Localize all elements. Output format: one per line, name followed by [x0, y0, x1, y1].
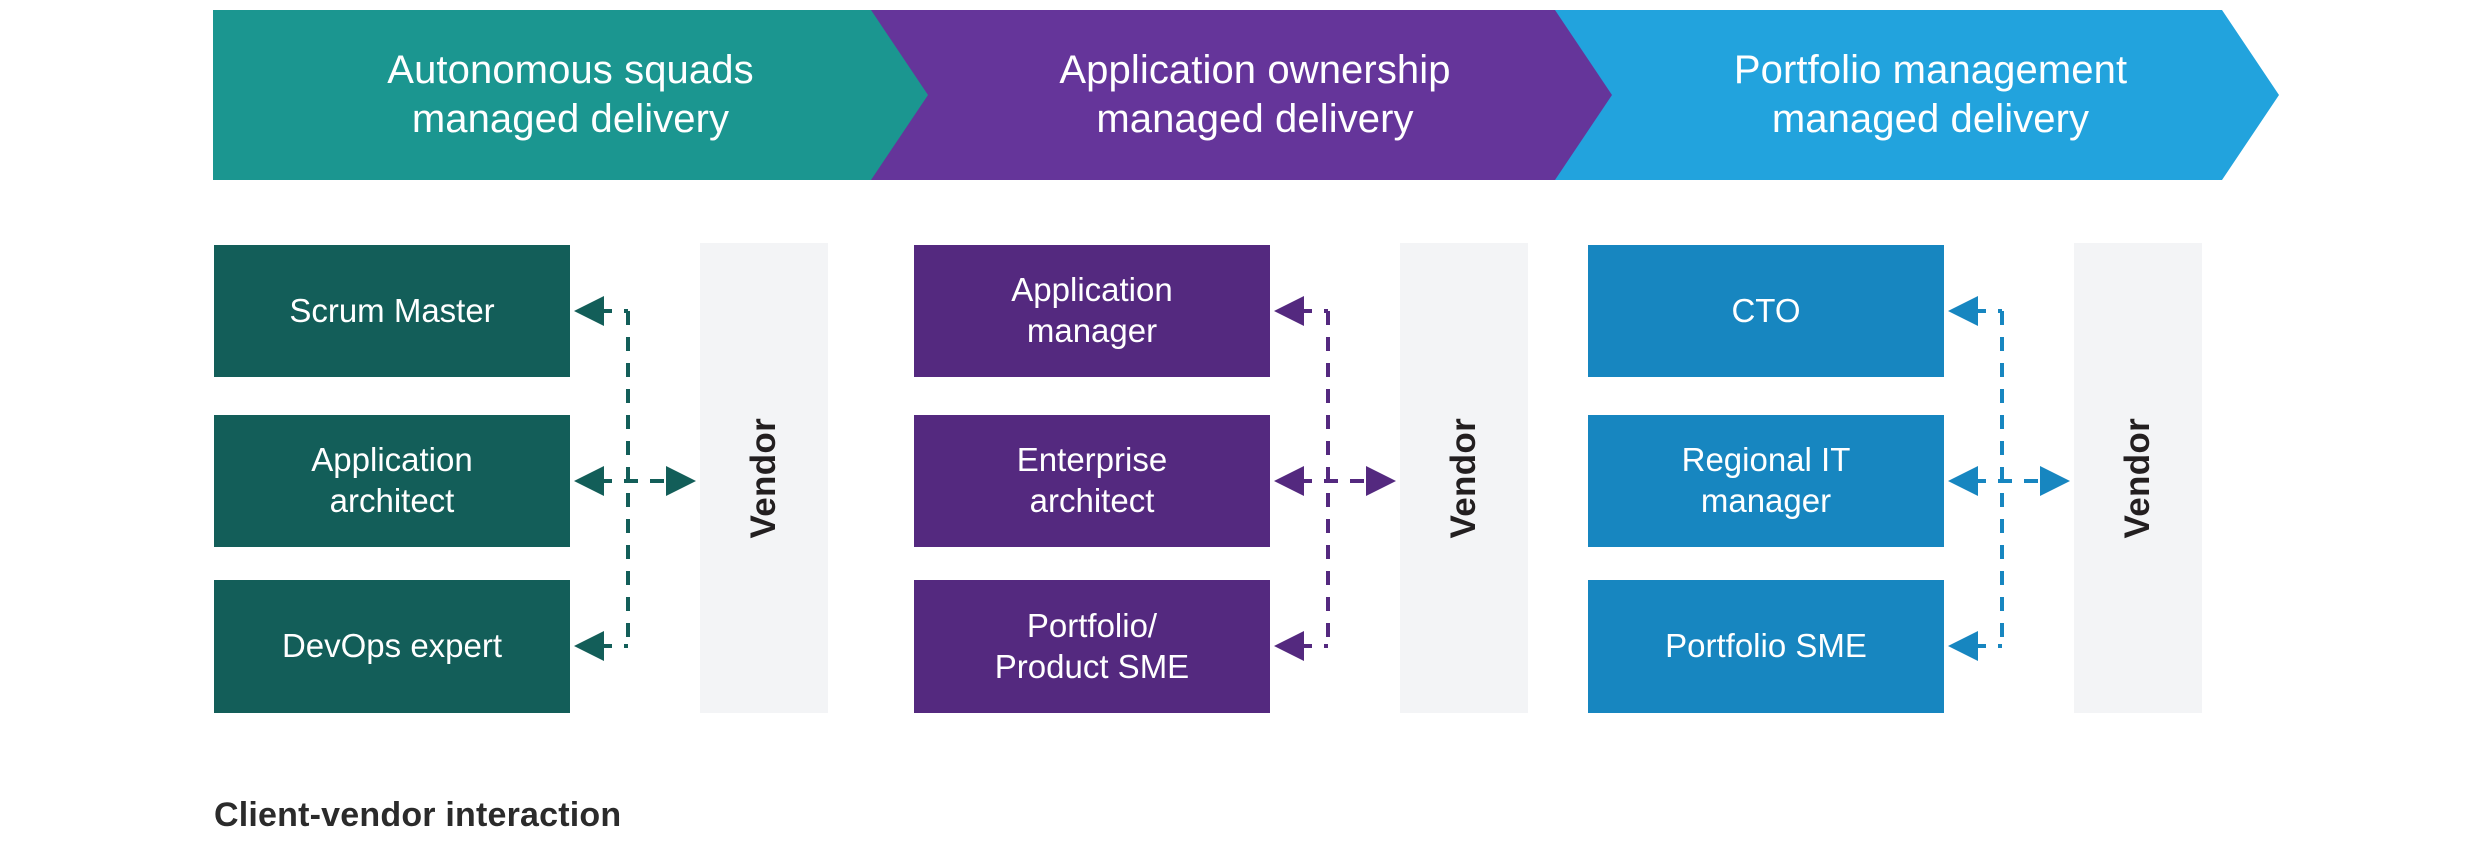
role-label: Portfolio SME	[1665, 626, 1867, 667]
role-box[interactable]: Portfolio/ Product SME	[914, 580, 1270, 713]
role-box[interactable]: Scrum Master	[214, 245, 570, 377]
vendor-column[interactable]: Vendor	[700, 243, 828, 713]
banner-chevron-label: Application ownership managed delivery	[1059, 46, 1450, 144]
vendor-label: Vendor	[2118, 418, 2158, 538]
phase-banner: Autonomous squads managed delivery Appli…	[0, 0, 2480, 190]
diagram-canvas: Autonomous squads managed delivery Appli…	[0, 0, 2480, 867]
role-box[interactable]: Application architect	[214, 415, 570, 547]
role-group-portfolio-management: CTO Regional IT manager Portfolio SME Ve…	[1588, 243, 2202, 713]
role-label: Scrum Master	[289, 291, 494, 332]
banner-chevron-application-ownership[interactable]: Application ownership managed delivery	[870, 10, 1612, 180]
vendor-label: Vendor	[744, 418, 784, 538]
diagram-caption: Client-vendor interaction	[214, 796, 621, 835]
role-label: DevOps expert	[282, 626, 502, 667]
role-label: Portfolio/ Product SME	[995, 606, 1189, 688]
role-label: Regional IT manager	[1682, 440, 1851, 522]
role-group-application-ownership: Application manager Enterprise architect…	[914, 243, 1528, 713]
vendor-column[interactable]: Vendor	[2074, 243, 2202, 713]
banner-chevron-autonomous-squads[interactable]: Autonomous squads managed delivery	[213, 10, 928, 180]
vendor-column[interactable]: Vendor	[1400, 243, 1528, 713]
role-label: CTO	[1731, 291, 1800, 332]
banner-chevron-portfolio-management[interactable]: Portfolio management managed delivery	[1554, 10, 2279, 180]
role-box[interactable]: Enterprise architect	[914, 415, 1270, 547]
role-box[interactable]: CTO	[1588, 245, 1944, 377]
role-box[interactable]: DevOps expert	[214, 580, 570, 713]
vendor-label: Vendor	[1444, 418, 1484, 538]
role-box[interactable]: Portfolio SME	[1588, 580, 1944, 713]
role-label: Application architect	[311, 440, 472, 522]
role-label: Enterprise architect	[1017, 440, 1167, 522]
role-box[interactable]: Regional IT manager	[1588, 415, 1944, 547]
role-box[interactable]: Application manager	[914, 245, 1270, 377]
role-label: Application manager	[1011, 270, 1172, 352]
banner-chevron-label: Autonomous squads managed delivery	[387, 46, 753, 144]
banner-chevron-label: Portfolio management managed delivery	[1734, 46, 2127, 144]
role-group-autonomous-squads: Scrum Master Application architect DevOp…	[214, 243, 828, 713]
